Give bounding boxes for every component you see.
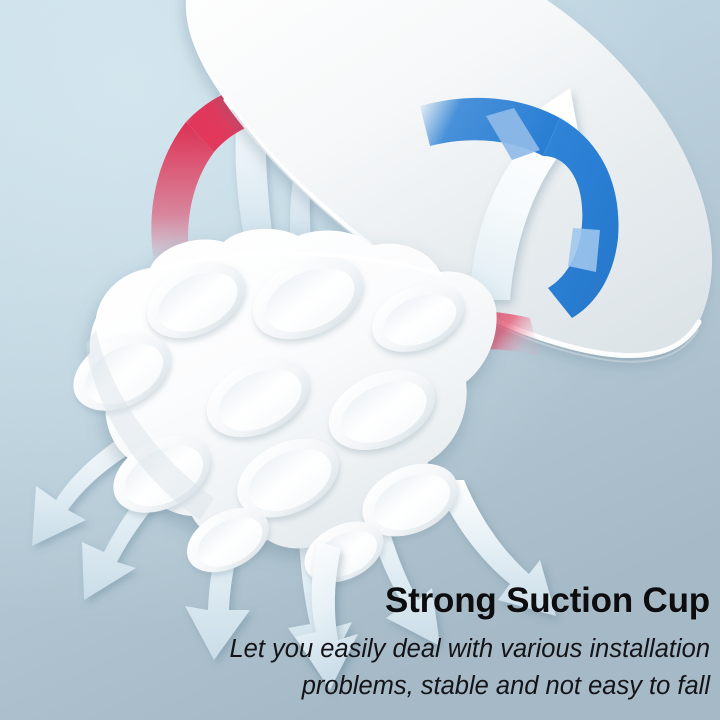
subtitle-line-2: problems, stable and not easy to fall [10, 674, 710, 700]
product-marketing-image: Strong Suction Cup Let you easily deal w… [0, 0, 720, 720]
subtitle-line-1: Let you easily deal with various install… [10, 637, 710, 663]
page-title: Strong Suction Cup [10, 583, 710, 618]
